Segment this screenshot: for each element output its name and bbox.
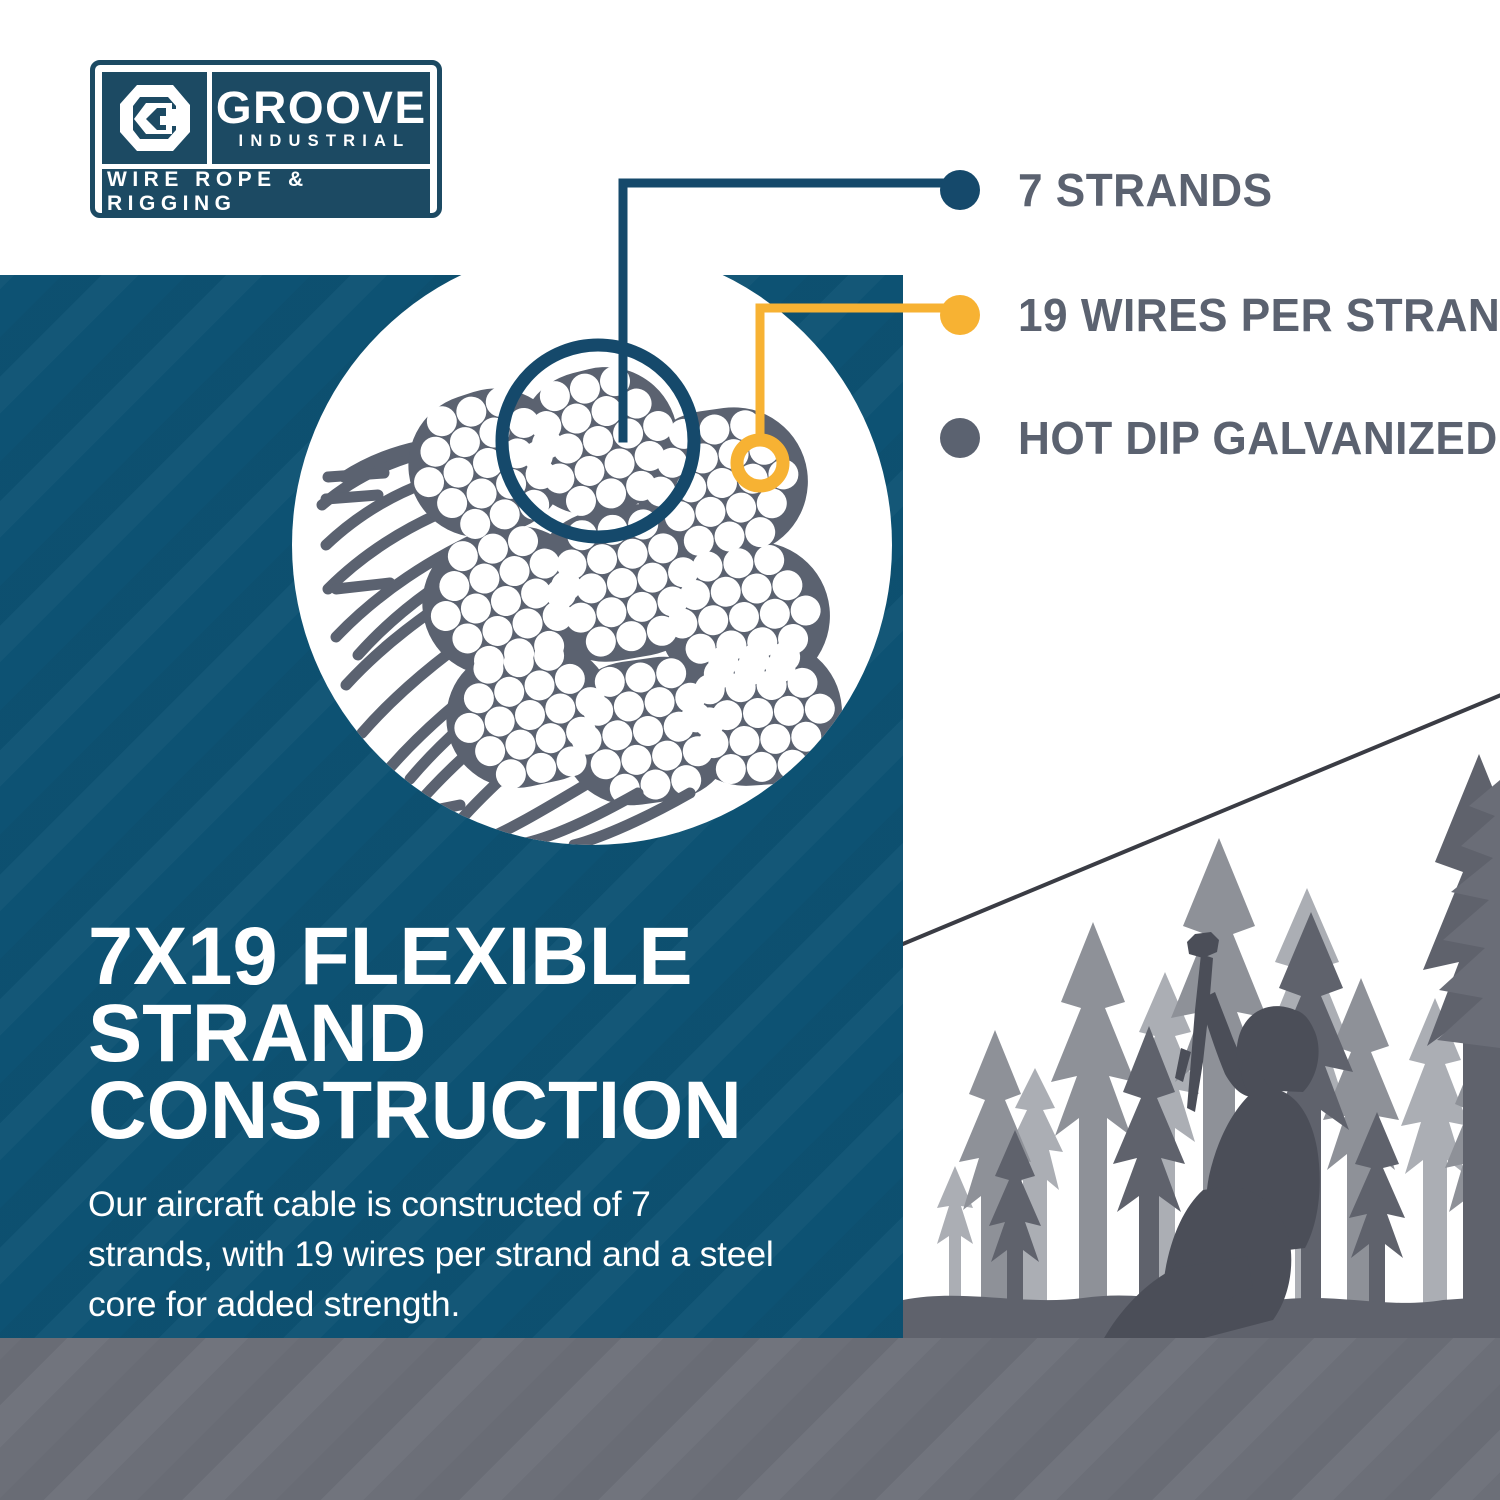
callout-label-2: 19 WIRES PER STRAND bbox=[1018, 288, 1500, 342]
gray-band-texture bbox=[0, 1338, 1500, 1500]
callout-7-strands[interactable]: 7 STRANDS bbox=[940, 163, 1283, 217]
headline: 7X19 FLEXIBLE STRAND CONSTRUCTION bbox=[88, 918, 870, 1149]
callout-label-3: HOT DIP GALVANIZED bbox=[1018, 411, 1498, 465]
callout-dot-orange bbox=[940, 295, 980, 335]
brand-logo[interactable]: GROOVE INDUSTRIAL WIRE ROPE & RIGGING bbox=[90, 60, 442, 218]
brand-name: GROOVE bbox=[216, 86, 427, 130]
infographic-canvas: 7 STRANDS 19 WIRES PER STRAND HOT DIP GA… bbox=[0, 0, 1500, 1500]
groove-g-icon bbox=[102, 72, 207, 164]
callout-label-1: 7 STRANDS bbox=[1018, 163, 1273, 217]
body-copy: Our aircraft cable is constructed of 7 s… bbox=[88, 1179, 778, 1330]
callout-dot-teal bbox=[940, 170, 980, 210]
callout-dot-gray bbox=[940, 418, 980, 458]
bottom-gray-band bbox=[0, 1338, 1500, 1500]
brand-tagline: WIRE ROPE & RIGGING bbox=[102, 168, 430, 216]
callout-19-wires-per-strand[interactable]: 19 WIRES PER STRAND bbox=[940, 288, 1500, 342]
wire-rope-illustration bbox=[292, 245, 892, 845]
headline-line-2: STRAND CONSTRUCTION bbox=[88, 995, 870, 1149]
callout-hot-dip-galvanized[interactable]: HOT DIP GALVANIZED bbox=[940, 411, 1500, 465]
brand-subname: INDUSTRIAL bbox=[232, 133, 411, 150]
